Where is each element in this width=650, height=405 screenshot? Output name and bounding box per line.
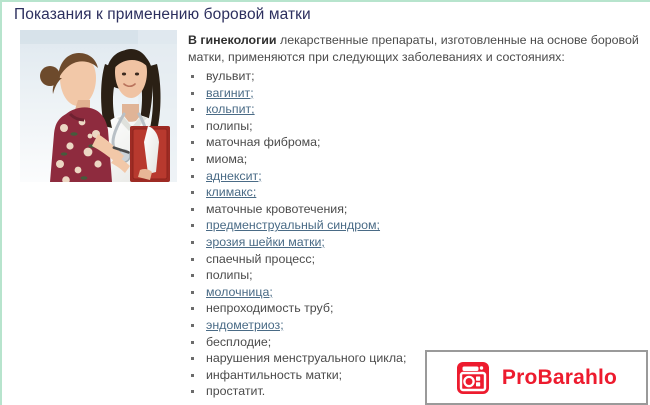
list-item: миома; [188, 151, 518, 168]
symptom-text: инфантильность матки; [206, 368, 342, 382]
symptom-text: полипы; [206, 268, 253, 282]
list-item: маточная фиброма; [188, 134, 518, 151]
list-item: маточные кровотечения; [188, 201, 518, 218]
watermark-badge: ProBarahlo [425, 350, 648, 405]
list-item[interactable]: предменструальный синдром; [188, 217, 518, 234]
symptom-link[interactable]: климакс; [206, 185, 256, 199]
list-item: спаечный процесс; [188, 251, 518, 268]
intro-lead: В гинекологии [188, 33, 277, 47]
symptom-link[interactable]: аднексит; [206, 169, 262, 183]
list-item: полипы; [188, 267, 518, 284]
symptom-text: непроходимость труб; [206, 301, 333, 315]
symptom-text: маточная фиброма; [206, 135, 320, 149]
intro-paragraph: В гинекологии лекарственные препараты, и… [188, 32, 644, 66]
symptom-text: нарушения менструального цикла; [206, 351, 406, 365]
article-photo [20, 30, 177, 182]
list-item: бесплодие; [188, 334, 518, 351]
list-item[interactable]: эндометриоз; [188, 317, 518, 334]
symptom-link[interactable]: молочница; [206, 285, 273, 299]
page-container: Показания к применению боровой матки [0, 0, 650, 405]
list-item[interactable]: молочница; [188, 284, 518, 301]
symptom-text: спаечный процесс; [206, 252, 315, 266]
list-item[interactable]: эрозия шейки матки; [188, 234, 518, 251]
symptom-link[interactable]: эндометриоз; [206, 318, 284, 332]
list-item[interactable]: вагинит; [188, 85, 518, 102]
list-item: непроходимость труб; [188, 300, 518, 317]
list-item[interactable]: аднексит; [188, 168, 518, 185]
symptom-text: полипы; [206, 119, 253, 133]
watermark-brand: ProBarahlo [502, 367, 617, 388]
symptom-text: вульвит; [206, 69, 255, 83]
camera-icon [456, 361, 490, 395]
symptom-text: простатит. [206, 384, 265, 398]
list-item[interactable]: кольпит; [188, 101, 518, 118]
symptom-text: маточные кровотечения; [206, 202, 347, 216]
list-item: полипы; [188, 118, 518, 135]
symptom-link[interactable]: эрозия шейки матки; [206, 235, 325, 249]
symptom-link[interactable]: предменструальный синдром; [206, 218, 380, 232]
list-item[interactable]: климакс; [188, 184, 518, 201]
symptom-link[interactable]: вагинит; [206, 86, 254, 100]
page-title: Показания к применению боровой матки [14, 6, 311, 24]
symptom-text: бесплодие; [206, 335, 271, 349]
symptom-link[interactable]: кольпит; [206, 102, 255, 116]
symptom-text: миома; [206, 152, 247, 166]
list-item: вульвит; [188, 68, 518, 85]
